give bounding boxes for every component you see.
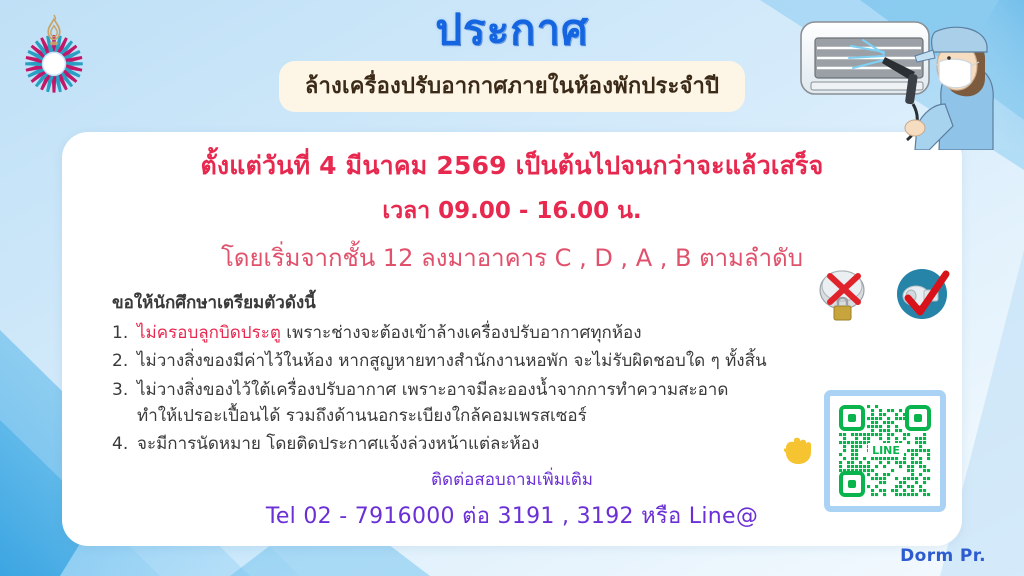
list-item-text: ไม่วางสิ่งของมีค่าไว้ในห้อง หากสูญหายทาง… [137, 351, 767, 371]
qr-code-graphic: LINE [835, 401, 935, 501]
doorknob-cover-with-red-x-icon [820, 271, 864, 320]
schedule-headline: ตั้งแต่วันที่ 4 มีนาคม 2569 เป็นต้นไปจนก… [62, 132, 962, 277]
qr-brand-label: LINE [872, 444, 900, 457]
kmutt-logo [18, 12, 90, 98]
doorknob-guidance-icons [812, 266, 972, 328]
list-item-highlight: ไม่ครอบลูกบิดประตู [137, 323, 281, 343]
list-item-text: จะมีการนัดหมาย โดยติดประกาศแจ้งล่วงหน้าแ… [137, 434, 539, 454]
signature-text: Dorm Pr. [900, 546, 986, 566]
list-item-text: เพราะช่างจะต้องเข้าล้างเครื่องปรับอากาศท… [281, 323, 642, 343]
poster-header: ประกาศ ล้างเครื่องปรับอากาศภายในห้องพักป… [0, 8, 1024, 112]
list-item: 2. ไม่วางสิ่งของมีค่าไว้ในห้อง หากสูญหาย… [112, 348, 962, 374]
list-item-number: 1. [112, 320, 128, 346]
subtitle-banner: ล้างเครื่องปรับอากาศภายในห้องพักประจำปี [279, 61, 745, 112]
list-item-number: 4. [112, 431, 128, 457]
list-item-text: ไม่วางสิ่งของไว้ใต้เครื่องปรับอากาศ เพรา… [137, 380, 728, 400]
pointing-right-hand-icon [782, 436, 818, 471]
line-qr-code[interactable]: LINE [824, 390, 946, 512]
bare-doorknob-with-red-check-icon [897, 269, 947, 319]
page-title: ประกาศ [0, 8, 1024, 52]
list-item-number: 2. [112, 348, 128, 374]
schedule-date-line: ตั้งแต่วันที่ 4 มีนาคม 2569 เป็นต้นไปจนก… [62, 146, 962, 186]
kmutt-sunburst-logo [18, 12, 90, 98]
schedule-time-line: เวลา 09.00 - 16.00 น. [62, 193, 962, 229]
list-item-number: 3. [112, 377, 128, 403]
